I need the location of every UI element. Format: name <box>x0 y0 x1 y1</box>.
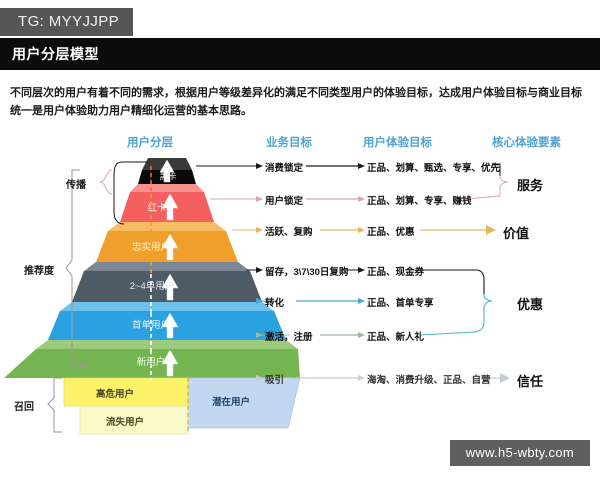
bracket-spread <box>100 170 112 194</box>
column-header-experience: 用户体验目标 <box>363 134 432 150</box>
core-element-benefit: 优惠 <box>517 294 543 313</box>
pyramid-label-red-card: 红卡 <box>140 200 174 214</box>
core-element-service: 服务 <box>517 175 543 194</box>
pyramid-label-loyal-user: 忠实用户 <box>120 239 182 253</box>
pyramid-label-multi-order: 2~4单用户 <box>116 278 188 292</box>
experience-goal-5: 正品、新人礼 <box>367 329 424 343</box>
experience-goal-0: 正品、划算、甄选、专享、优先 <box>367 160 500 174</box>
business-goal-1: 用户锁定 <box>265 193 303 207</box>
business-goal-2: 活跃、复购 <box>265 224 313 238</box>
tg-tag-text: TG: MYYJJPP <box>18 13 119 30</box>
experience-goal-4: 正品、首单专享 <box>367 295 434 309</box>
arrow-core-value <box>420 225 496 235</box>
pyramid-label-potential-user: 潜在用户 <box>212 394 250 408</box>
experience-goal-2: 正品、优惠 <box>367 224 415 238</box>
screenshot-root: TG: MYYJJPP 用户分层模型 不同层次的用户有着不同的需求，根据用户等级… <box>0 0 600 480</box>
pyramid-label-churned-user: 流失用户 <box>106 414 144 428</box>
business-goal-4: 转化 <box>265 295 284 309</box>
watermark: www.h5-wbty.com <box>450 440 590 466</box>
bracket-recall <box>48 378 62 432</box>
experience-goal-6: 海淘、消费升级、正品、自营 <box>367 372 491 386</box>
page-title: 用户分层模型 <box>0 44 99 64</box>
experience-goal-1: 正品、划算、专享、赚钱 <box>367 193 472 207</box>
pyramid-label-new-user: 新用户 <box>121 354 181 368</box>
column-header-core: 核心体验要素 <box>492 134 561 150</box>
column-header-business: 业务目标 <box>266 134 312 150</box>
side-label-recommendation: 推荐度 <box>24 262 54 277</box>
title-bar: 用户分层模型 <box>0 38 600 70</box>
column-header-user-tier: 用户分层 <box>127 134 173 150</box>
pyramid-label-first-order: 首单用户 <box>119 317 183 331</box>
business-goal-3: 留存，3\7\30日复购 <box>265 264 348 278</box>
business-goal-0: 消费锁定 <box>265 160 303 174</box>
side-label-spread: 传播 <box>66 176 86 191</box>
diagram-canvas: 黑卡 红卡 忠实用户 2~4单用户 首单用户 新用户 高危用户 流失用户 潜在用… <box>0 150 600 440</box>
business-goal-6: 吸引 <box>265 372 284 386</box>
core-element-value: 价值 <box>503 223 529 242</box>
bracket-core-discount <box>420 270 484 294</box>
tg-tag-banner: TG: MYYJJPP <box>0 8 133 36</box>
watermark-text: www.h5-wbty.com <box>466 445 574 460</box>
core-element-trust: 信任 <box>517 371 543 390</box>
experience-goal-3: 正品、现金券 <box>367 264 424 278</box>
business-goal-5: 激活，注册 <box>265 329 313 343</box>
pyramid-label-black-card: 黑卡 <box>153 170 183 182</box>
pyramid-label-high-risk-user: 高危用户 <box>96 386 134 400</box>
intro-paragraph: 不同层次的用户有着不同的需求，根据用户等级差异化的满足不同类型用户的体验目标，达… <box>10 84 590 120</box>
side-label-recall: 召回 <box>14 398 34 413</box>
bracket-core-service-2 <box>466 176 508 199</box>
